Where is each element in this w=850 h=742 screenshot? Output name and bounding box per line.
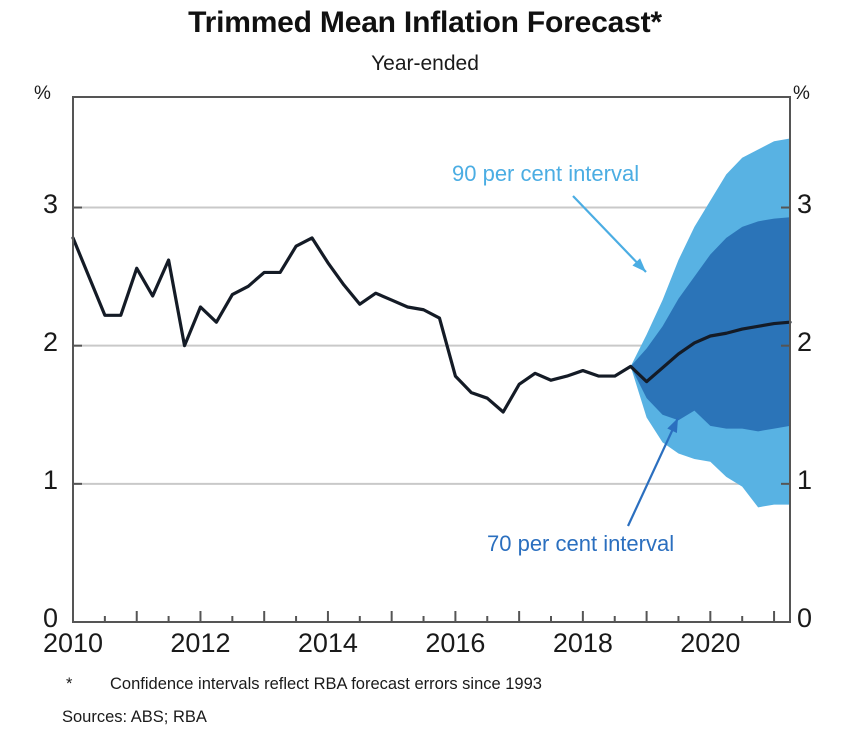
y-axis-label-left: 2: [22, 327, 58, 358]
x-axis-label: 2018: [538, 628, 628, 659]
y-axis-label-right: 3: [797, 189, 833, 220]
footnote-marker: *: [66, 675, 72, 694]
y-axis-label-left: 1: [22, 465, 58, 496]
x-axis-label: 2020: [665, 628, 755, 659]
sources-text: Sources: ABS; RBA: [62, 708, 207, 727]
legend-label-90-interval: 90 per cent interval: [452, 161, 639, 187]
footnote-text: Confidence intervals reflect RBA forecas…: [110, 675, 542, 694]
chart-page: Trimmed Mean Inflation Forecast* Year-en…: [0, 0, 850, 742]
y-axis-label-right: 2: [797, 327, 833, 358]
x-axis-label: 2012: [155, 628, 245, 659]
legend-label-70-interval: 70 per cent interval: [487, 531, 674, 557]
x-axis-label: 2010: [28, 628, 118, 659]
y-axis-label-left: 3: [22, 189, 58, 220]
y-axis-label-right: 1: [797, 465, 833, 496]
x-axis-label: 2016: [410, 628, 500, 659]
y-axis-label-right: 0: [797, 603, 833, 634]
x-axis-label: 2014: [283, 628, 373, 659]
